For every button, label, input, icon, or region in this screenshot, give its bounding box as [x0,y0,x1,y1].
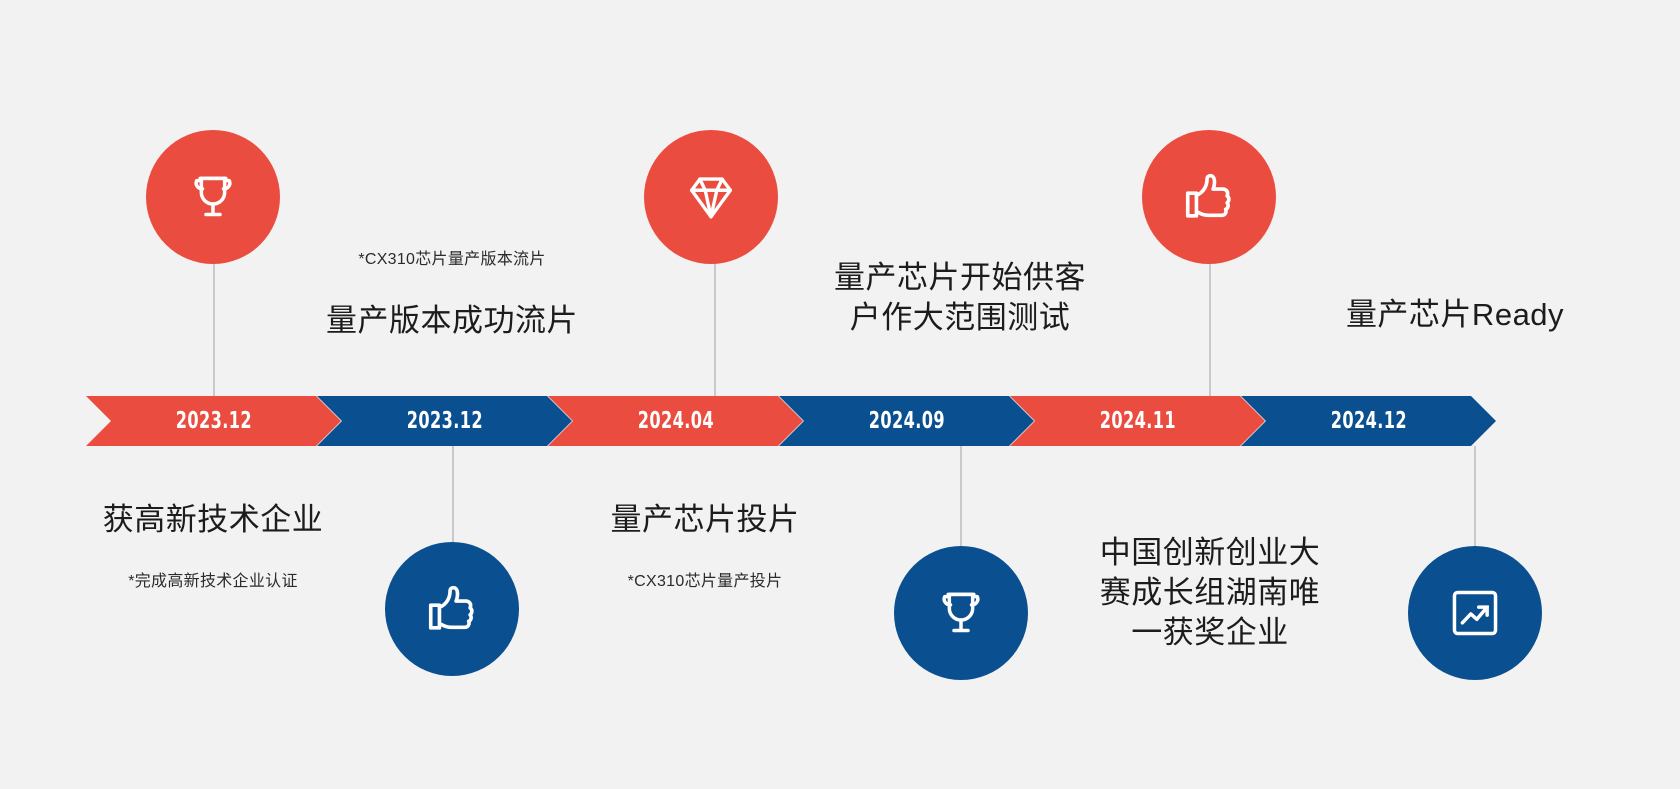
timeline-segment-label: 2023.12 [406,408,482,434]
timeline-infographic: 2023.12 2023.12 2024.04 2024.09 2024.11 … [0,0,1680,789]
trophy-icon [933,585,989,641]
milestone-title: 量产芯片Ready [1305,295,1605,335]
milestone-icon-badge-4 [894,546,1028,680]
milestone-label-5: 中国创新创业大 赛成长组湖南唯 一获奖企业 [1065,513,1355,673]
milestone-label-2: *CX310芯片量产版本流片 量产版本成功流片 [292,230,612,362]
milestone-icon-badge-6 [1408,546,1542,680]
connector-stem-6 [1474,446,1476,546]
timeline-segment-label: 2023.12 [175,408,251,434]
connector-stem-1 [213,250,215,396]
timeline-segment-2[interactable]: 2023.12 [317,396,572,446]
timeline-segment-3[interactable]: 2024.04 [548,396,803,446]
timeline-segment-5[interactable]: 2024.11 [1010,396,1265,446]
connector-stem-3 [714,250,716,396]
milestone-subtitle: *CX310芯片量产投片 [545,572,865,592]
milestone-label-3: 量产芯片投片 *CX310芯片量产投片 [545,480,865,613]
timeline-segment-4[interactable]: 2024.09 [779,396,1034,446]
growth-chart-icon [1447,585,1503,641]
timeline-chevron-band: 2023.12 2023.12 2024.04 2024.09 2024.11 … [0,396,1680,446]
timeline-segment-label: 2024.09 [868,408,944,434]
milestone-title: 量产版本成功流片 [292,301,612,341]
timeline-segment-1[interactable]: 2023.12 [86,396,341,446]
timeline-segment-label: 2024.11 [1099,408,1175,434]
milestone-subtitle: *CX310芯片量产版本流片 [292,250,612,270]
milestone-icon-badge-1 [146,130,280,264]
milestone-icon-badge-5 [1142,130,1276,264]
milestone-title: 中国创新创业大 赛成长组湖南唯 一获奖企业 [1065,533,1355,652]
milestone-label-4: 量产芯片开始供客 户作大范围测试 [815,238,1105,358]
connector-stem-5 [1209,250,1211,396]
milestone-label-1: 获高新技术企业 *完成高新技术企业认证 [53,480,373,613]
diamond-icon [682,168,740,226]
thumbs-up-icon [1180,168,1238,226]
milestone-icon-badge-2 [385,542,519,676]
timeline-segment-label: 2024.04 [637,408,713,434]
timeline-segment-6[interactable]: 2024.12 [1241,396,1496,446]
connector-stem-4 [960,446,962,546]
milestone-title: 量产芯片开始供客 户作大范围测试 [815,258,1105,337]
milestone-title: 量产芯片投片 [545,500,865,540]
timeline-segment-label: 2024.12 [1330,408,1406,434]
milestone-subtitle: *完成高新技术企业认证 [53,572,373,592]
connector-stem-2 [452,446,454,542]
milestone-label-6: 量产芯片Ready [1305,275,1605,356]
milestone-title: 获高新技术企业 [53,500,373,540]
trophy-icon [185,169,241,225]
milestone-icon-badge-3 [644,130,778,264]
thumbs-up-icon [423,580,481,638]
